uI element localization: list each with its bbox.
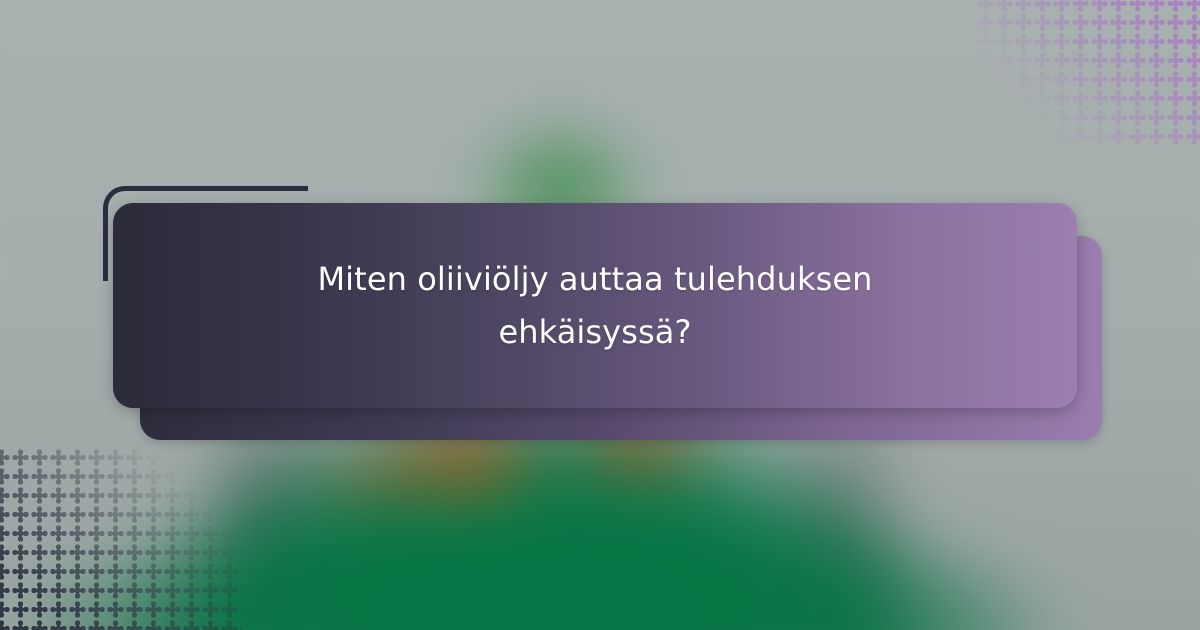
title-card: Miten oliiviöljy auttaa tulehduksen ehkä… <box>113 203 1077 408</box>
page-title: Miten oliiviöljy auttaa tulehduksen ehkä… <box>275 253 915 359</box>
og-image-canvas: Miten oliiviöljy auttaa tulehduksen ehkä… <box>0 0 1200 630</box>
star-dot-pattern-icon-top-right <box>976 0 1200 144</box>
star-dot-pattern-icon-bottom-left <box>0 448 242 630</box>
